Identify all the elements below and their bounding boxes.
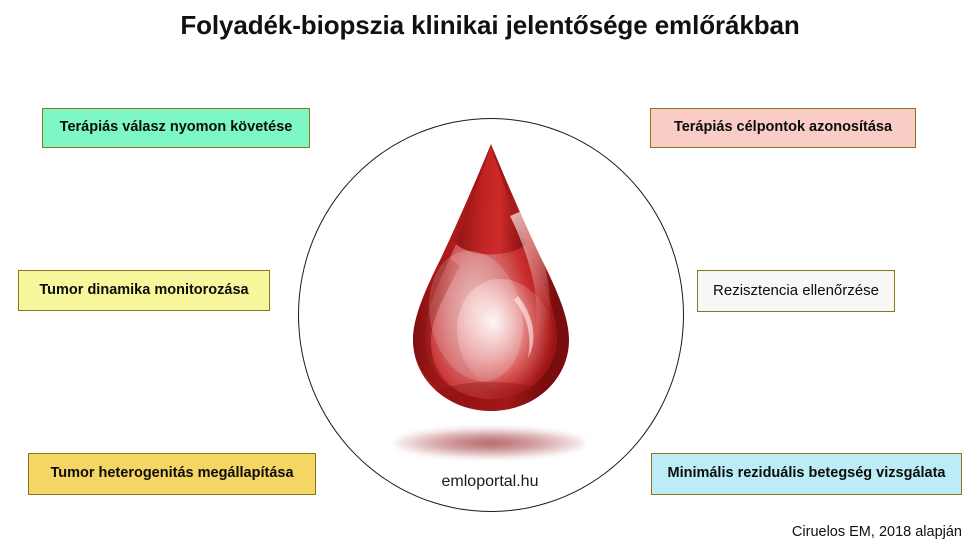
- blood-drop-illustration: [398, 140, 584, 415]
- callout-heterogeneity: Tumor heterogenitás megállapítása: [28, 453, 316, 495]
- callout-residual-disease: Minimális reziduális betegség vizsgálata: [651, 453, 962, 495]
- callout-label: Tumor dinamika monitorozása: [39, 283, 248, 299]
- callout-therapy-response: Terápiás válasz nyomon követése: [42, 108, 310, 148]
- callout-label: Rezisztencia ellenőrzése: [713, 283, 879, 300]
- callout-label: Terápiás válasz nyomon követése: [60, 120, 293, 136]
- callout-resistance: Rezisztencia ellenőrzése: [697, 270, 895, 312]
- slide-canvas: Folyadék-biopszia klinikai jelentősége e…: [0, 0, 980, 560]
- blood-drop-shadow: [395, 428, 585, 458]
- page-title: Folyadék-biopszia klinikai jelentősége e…: [0, 10, 980, 41]
- blood-drop-icon: [398, 140, 584, 415]
- callout-therapy-targets: Terápiás célpontok azonosítása: [650, 108, 916, 148]
- source-citation: Ciruelos EM, 2018 alapján: [792, 524, 962, 540]
- callout-label: Minimális reziduális betegség vizsgálata: [667, 466, 945, 482]
- callout-label: Tumor heterogenitás megállapítása: [50, 466, 293, 482]
- callout-tumor-dynamics: Tumor dinamika monitorozása: [18, 270, 270, 311]
- callout-label: Terápiás célpontok azonosítása: [674, 120, 892, 136]
